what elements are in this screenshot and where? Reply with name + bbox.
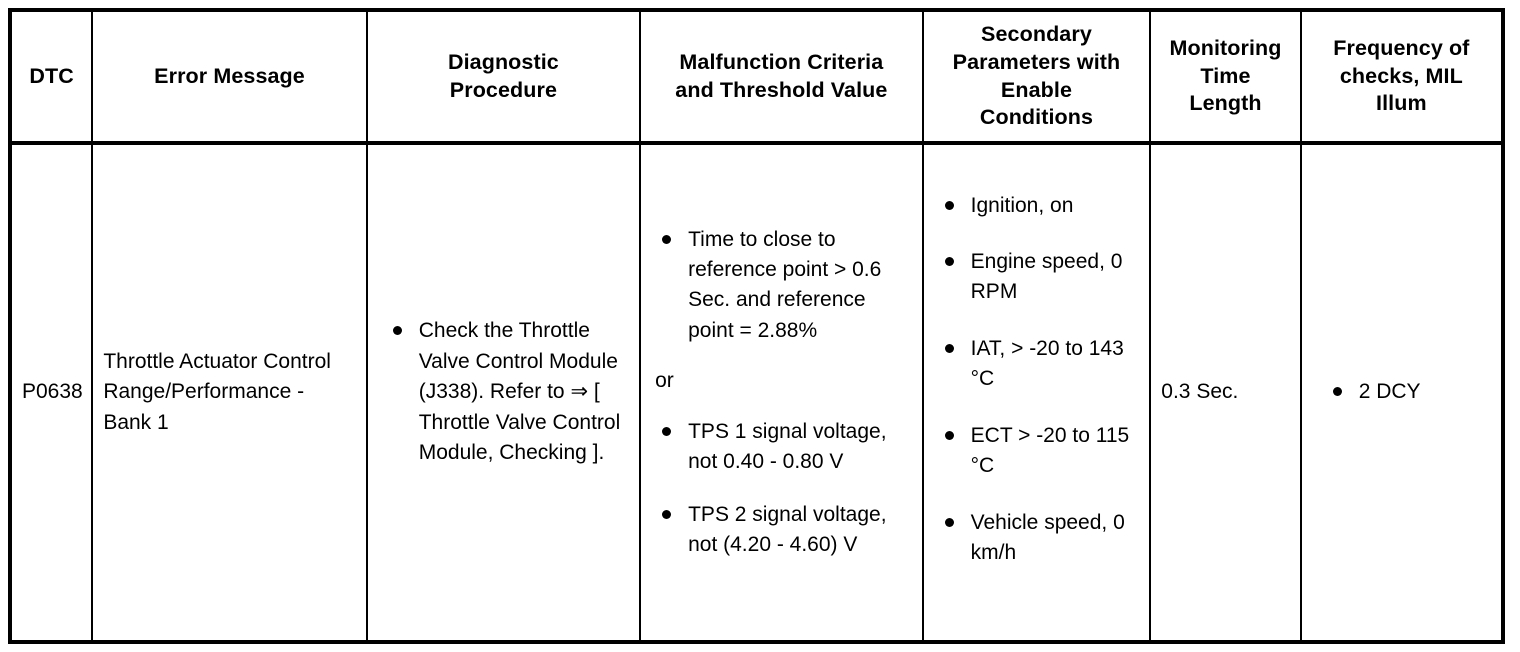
list-item: Ignition, on bbox=[938, 191, 1142, 221]
column-header-secondary-line3: Enable bbox=[1001, 78, 1072, 102]
column-header-error-message-label: Error Message bbox=[154, 64, 305, 88]
monitoring-time-length-value: 0.3 Sec. bbox=[1161, 380, 1238, 403]
diagnostic-procedure-wrap: Check the Throttle Valve Control Module … bbox=[368, 316, 639, 468]
malfunction-criteria-separator: or bbox=[655, 366, 914, 396]
column-header-frequency-line3: Illum bbox=[1376, 91, 1427, 115]
secondary-parameters-wrap: Ignition, on Engine speed, 0 RPM IAT, > … bbox=[924, 191, 1150, 569]
column-header-secondary-line2: Parameters with bbox=[953, 50, 1121, 74]
cell-error-message: Throttle Actuator Control Range/Performa… bbox=[92, 143, 366, 642]
column-header-secondary-line1: Secondary bbox=[981, 22, 1092, 46]
document-page: DTC Error Message Diagnostic Procedure M… bbox=[0, 0, 1520, 652]
column-header-error-message: Error Message bbox=[92, 10, 366, 143]
malfunction-criteria-list-primary: Time to close to reference point > 0.6 S… bbox=[655, 225, 914, 347]
malfunction-criteria-list-alternate: TPS 1 signal voltage, not 0.40 - 0.80 V … bbox=[655, 417, 914, 561]
dtc-table: DTC Error Message Diagnostic Procedure M… bbox=[8, 8, 1505, 644]
table-row: P0638 Throttle Actuator Control Range/Pe… bbox=[10, 143, 1503, 642]
column-header-secondary-line4: Conditions bbox=[980, 105, 1093, 129]
column-header-monitoring-line2: Time bbox=[1200, 64, 1250, 88]
list-item: TPS 1 signal voltage, not 0.40 - 0.80 V bbox=[655, 417, 914, 478]
column-header-diagnostic-procedure-line2: Procedure bbox=[450, 78, 557, 102]
column-header-frequency-line1: Frequency of bbox=[1333, 36, 1469, 60]
cell-secondary-parameters: Ignition, on Engine speed, 0 RPM IAT, > … bbox=[923, 143, 1151, 642]
list-item: Time to close to reference point > 0.6 S… bbox=[655, 225, 914, 347]
secondary-parameter-text: Engine speed, 0 RPM bbox=[971, 250, 1123, 303]
cell-monitoring-time-length: 0.3 Sec. bbox=[1150, 143, 1300, 642]
list-item: 2 DCY bbox=[1326, 377, 1493, 407]
column-header-diagnostic-procedure-line1: Diagnostic bbox=[448, 50, 559, 74]
diagnostic-procedure-list: Check the Throttle Valve Control Module … bbox=[386, 316, 633, 468]
malfunction-criteria-wrap: Time to close to reference point > 0.6 S… bbox=[641, 225, 922, 561]
secondary-parameters-list: Ignition, on Engine speed, 0 RPM IAT, > … bbox=[938, 191, 1142, 569]
secondary-parameter-text: ECT > -20 to 115 °C bbox=[971, 424, 1130, 477]
malfunction-criterion-text: Time to close to reference point > 0.6 S… bbox=[688, 228, 881, 342]
error-message-wrap: Throttle Actuator Control Range/Performa… bbox=[93, 347, 365, 438]
column-header-monitoring-time-length: Monitoring Time Length bbox=[1150, 10, 1300, 143]
list-item: TPS 2 signal voltage, not (4.20 - 4.60) … bbox=[655, 500, 914, 561]
frequency-of-checks-list: 2 DCY bbox=[1326, 377, 1493, 407]
cell-malfunction-criteria: Time to close to reference point > 0.6 S… bbox=[640, 143, 923, 642]
column-header-frequency-of-checks: Frequency of checks, MIL Illum bbox=[1301, 10, 1503, 143]
malfunction-criterion-text: TPS 1 signal voltage, not 0.40 - 0.80 V bbox=[688, 420, 886, 473]
cell-dtc: P0638 bbox=[10, 143, 92, 642]
monitoring-time-length-wrap: 0.3 Sec. bbox=[1151, 377, 1299, 407]
secondary-parameter-text: IAT, > -20 to 143 °C bbox=[971, 337, 1124, 390]
column-header-monitoring-line3: Length bbox=[1189, 91, 1261, 115]
column-header-secondary-parameters: Secondary Parameters with Enable Conditi… bbox=[923, 10, 1151, 143]
dtc-value-wrap: P0638 bbox=[12, 377, 91, 407]
frequency-of-checks-value: 2 DCY bbox=[1359, 380, 1421, 403]
column-header-dtc: DTC bbox=[10, 10, 92, 143]
list-item: Vehicle speed, 0 km/h bbox=[938, 508, 1142, 569]
column-header-malfunction-line2: and Threshold Value bbox=[675, 78, 887, 102]
table-header-row: DTC Error Message Diagnostic Procedure M… bbox=[10, 10, 1503, 143]
cell-diagnostic-procedure: Check the Throttle Valve Control Module … bbox=[367, 143, 640, 642]
malfunction-criterion-text: TPS 2 signal voltage, not (4.20 - 4.60) … bbox=[688, 503, 886, 556]
list-item: Check the Throttle Valve Control Module … bbox=[386, 316, 633, 468]
column-header-dtc-label: DTC bbox=[29, 64, 74, 88]
cell-frequency-of-checks: 2 DCY bbox=[1301, 143, 1503, 642]
dtc-code: P0638 bbox=[22, 380, 83, 403]
secondary-parameter-text: Vehicle speed, 0 km/h bbox=[971, 511, 1125, 564]
column-header-monitoring-line1: Monitoring bbox=[1169, 36, 1281, 60]
column-header-frequency-line2: checks, MIL bbox=[1340, 64, 1463, 88]
list-item: IAT, > -20 to 143 °C bbox=[938, 334, 1142, 395]
column-header-diagnostic-procedure: Diagnostic Procedure bbox=[367, 10, 640, 143]
list-item: Engine speed, 0 RPM bbox=[938, 247, 1142, 308]
secondary-parameter-text: Ignition, on bbox=[971, 194, 1074, 217]
column-header-malfunction-criteria: Malfunction Criteria and Threshold Value bbox=[640, 10, 923, 143]
column-header-malfunction-line1: Malfunction Criteria bbox=[679, 50, 883, 74]
list-item: ECT > -20 to 115 °C bbox=[938, 421, 1142, 482]
error-message-text: Throttle Actuator Control Range/Performa… bbox=[103, 350, 331, 434]
diagnostic-procedure-step-text: Check the Throttle Valve Control Module … bbox=[419, 319, 621, 464]
frequency-of-checks-wrap: 2 DCY bbox=[1302, 377, 1501, 407]
